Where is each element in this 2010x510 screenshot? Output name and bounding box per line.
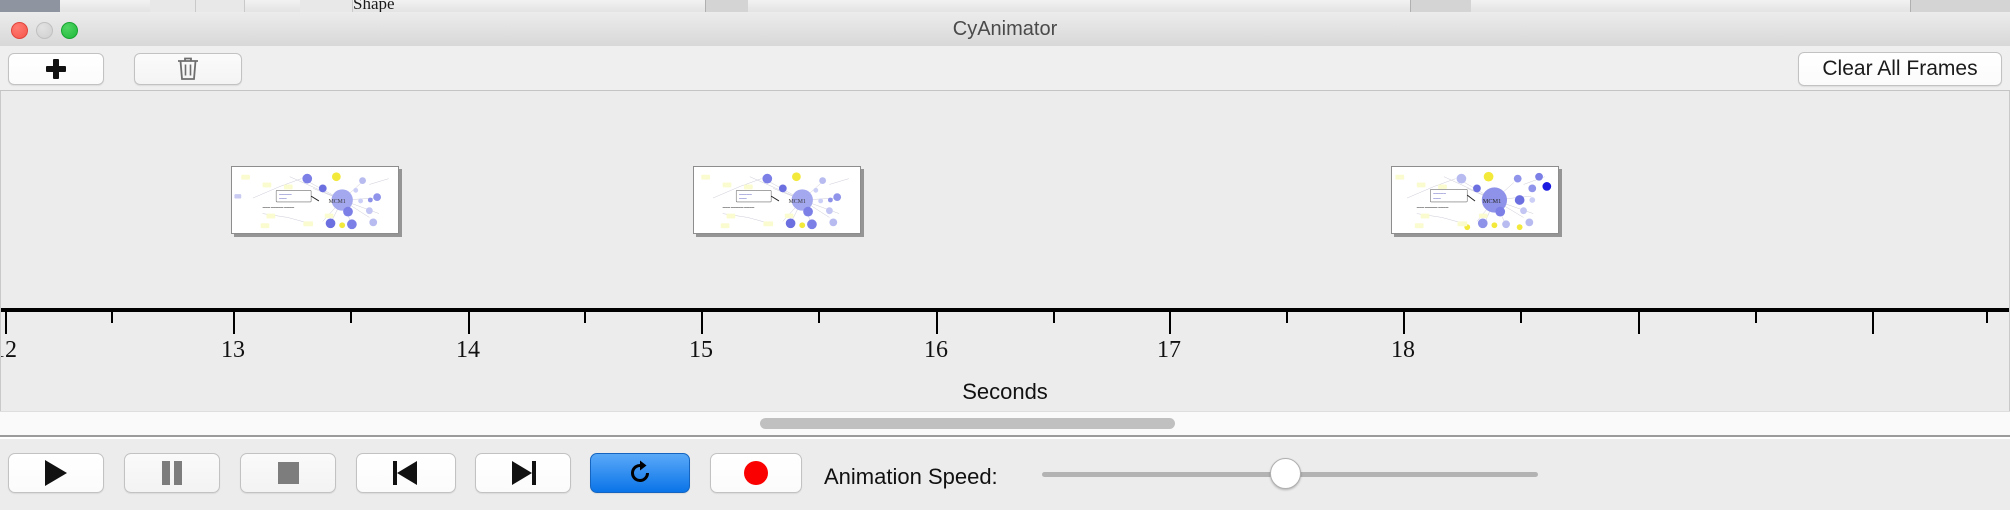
network-thumbnail: ▬▬▬▬▬ ▬▬▬ MCM1 ▬▬▬ ▬▬▬▬▬ ▬▬▬▬ (694, 167, 860, 233)
title-bar: CyAnimator (0, 12, 2010, 47)
thumbnail-hub-label: MCM1 (789, 199, 806, 205)
plus-icon (46, 59, 66, 79)
svg-text:▬▬▬▬▬: ▬▬▬▬▬ (1433, 192, 1446, 195)
axis-tick-major (701, 312, 703, 334)
axis-tick-major (468, 312, 470, 334)
timeline-panel[interactable]: ▬▬▬▬▬ ▬▬▬ MCM1 ▬▬▬ ▬▬▬▬▬ ▬▬▬▬ (0, 91, 2010, 411)
player-controls-bar: Animation Speed: (0, 439, 2010, 510)
clear-all-frames-label: Clear All Frames (1822, 57, 1977, 81)
axis-tick-minor (350, 312, 352, 323)
scrollbar-thumb[interactable] (760, 418, 1175, 429)
svg-text:▬▬▬ ▬▬▬▬▬ ▬▬▬▬: ▬▬▬ ▬▬▬▬▬ ▬▬▬▬ (723, 206, 755, 209)
record-icon (744, 461, 768, 485)
timeline-frame-2[interactable]: ▬▬▬▬▬ ▬▬▬ MCM1 ▬▬▬ ▬▬▬▬▬ ▬▬▬▬ (693, 166, 861, 234)
trash-icon (176, 56, 200, 82)
play-button[interactable] (8, 453, 104, 493)
axis-tick-minor (1986, 312, 1988, 323)
timeline-axis (1, 308, 2010, 312)
skip-forward-icon (510, 461, 536, 485)
background-window-segment (300, 0, 353, 12)
axis-tick-major (1403, 312, 1405, 334)
svg-text:▬▬▬▬▬: ▬▬▬▬▬ (279, 193, 292, 196)
stop-button[interactable] (240, 453, 336, 493)
clear-all-frames-button[interactable]: Clear All Frames (1798, 52, 2002, 86)
background-window-tab (705, 0, 748, 12)
animation-speed-label: Animation Speed: (824, 464, 998, 490)
axis-tick-minor (1053, 312, 1055, 323)
background-window-dark-segment (0, 0, 60, 12)
network-thumbnail: ▬▬▬▬▬ ▬▬▬ MCM1 ▬▬▬ ▬▬▬▬▬ ▬▬▬▬ (1392, 167, 1558, 233)
axis-tick-minor (818, 312, 820, 323)
axis-tick-label: 17 (1157, 337, 1181, 364)
skip-forward-button[interactable] (475, 453, 571, 493)
axis-tick-label: 18 (1391, 337, 1415, 364)
axis-tick-minor (111, 312, 113, 323)
timeline-horizontal-scrollbar[interactable] (0, 411, 2010, 437)
animation-speed-slider[interactable] (1042, 471, 1538, 479)
svg-text:▬▬▬: ▬▬▬ (739, 197, 747, 200)
axis-tick-major (936, 312, 938, 334)
axis-tick-major (5, 312, 7, 334)
background-window-tab (1410, 0, 1471, 12)
thumbnail-hub-label: MCM1 (329, 199, 346, 205)
axis-tick-minor (1286, 312, 1288, 323)
svg-text:▬▬▬ ▬▬▬▬▬ ▬▬▬▬: ▬▬▬ ▬▬▬▬▬ ▬▬▬▬ (263, 206, 295, 209)
loop-icon (625, 458, 655, 488)
toolbar: Clear All Frames (0, 46, 2010, 91)
axis-tick-label: 13 (221, 337, 245, 364)
page-title: CyAnimator (0, 12, 2010, 46)
background-window-segment (196, 0, 245, 12)
pause-icon (161, 461, 183, 485)
play-icon (45, 460, 67, 486)
axis-title: Seconds (1, 379, 2009, 405)
svg-text:▬▬▬: ▬▬▬ (1433, 197, 1441, 200)
stop-icon (278, 462, 299, 484)
thumbnail-hub-label: MCM1 (1483, 198, 1502, 205)
svg-text:▬▬▬ ▬▬▬▬▬ ▬▬▬▬: ▬▬▬ ▬▬▬▬▬ ▬▬▬▬ (1417, 206, 1449, 209)
cyanimator-window: Shape CyAnimator Clear All Frames (0, 0, 2010, 510)
background-window-segment (150, 0, 196, 12)
slider-thumb[interactable] (1270, 458, 1301, 489)
timeline-frame-1[interactable]: ▬▬▬▬▬ ▬▬▬ MCM1 ▬▬▬ ▬▬▬▬▬ ▬▬▬▬ (231, 166, 399, 234)
pause-button[interactable] (124, 453, 220, 493)
svg-text:▬▬▬▬▬: ▬▬▬▬▬ (739, 193, 752, 196)
axis-tick-minor (1520, 312, 1522, 323)
svg-text:▬▬▬: ▬▬▬ (279, 197, 287, 200)
axis-tick-minor (1755, 312, 1757, 323)
axis-tick-label: 16 (924, 337, 948, 364)
axis-tick-major (1872, 312, 1874, 334)
add-frame-button[interactable] (8, 53, 104, 85)
axis-tick-major (233, 312, 235, 334)
record-button[interactable] (710, 453, 802, 493)
axis-tick-label: 12 (0, 337, 17, 364)
skip-back-button[interactable] (356, 453, 456, 493)
skip-back-icon (393, 461, 419, 485)
axis-tick-label: 14 (456, 337, 480, 364)
network-thumbnail: ▬▬▬▬▬ ▬▬▬ MCM1 ▬▬▬ ▬▬▬▬▬ ▬▬▬▬ (232, 167, 398, 233)
axis-tick-major (1169, 312, 1171, 334)
axis-tick-label: 15 (689, 337, 713, 364)
axis-tick-major (1638, 312, 1640, 334)
axis-tick-minor (584, 312, 586, 323)
background-window-tab (1910, 0, 2010, 12)
timeline-frame-3[interactable]: ▬▬▬▬▬ ▬▬▬ MCM1 ▬▬▬ ▬▬▬▬▬ ▬▬▬▬ (1391, 166, 1559, 234)
delete-frame-button[interactable] (134, 53, 242, 85)
loop-button[interactable] (590, 453, 690, 493)
